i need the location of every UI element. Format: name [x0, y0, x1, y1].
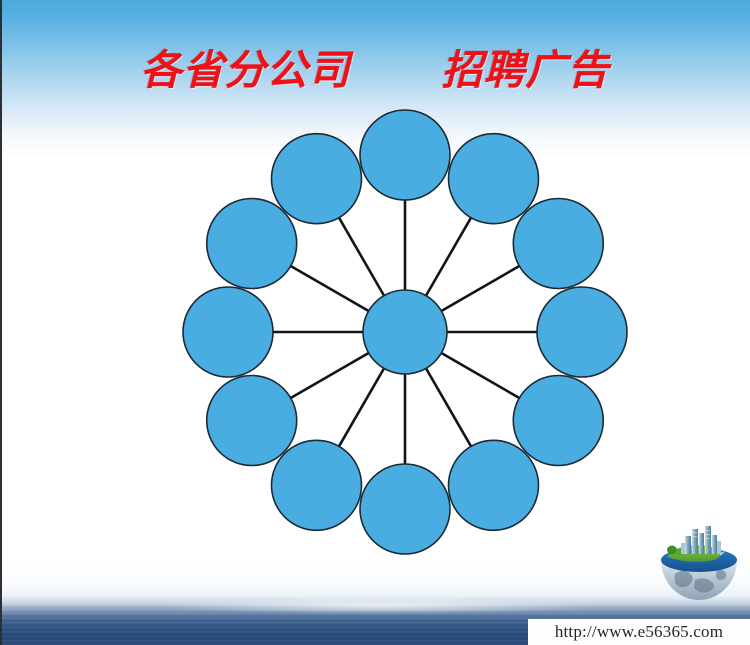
branch-node-circle[interactable] — [272, 440, 362, 530]
branch-node-circle[interactable] — [207, 199, 297, 289]
spoke-line — [426, 368, 472, 448]
watermark-url-text: http://www.e56365.com — [555, 622, 723, 642]
spoke-line — [339, 368, 385, 448]
hub-and-spoke-diagram — [0, 0, 750, 645]
slide-canvas: 各省分公司 招聘广告 — [0, 0, 750, 645]
center-hub-circle[interactable] — [363, 290, 447, 374]
branch-node-circle[interactable] — [513, 199, 603, 289]
spoke-line — [290, 353, 370, 399]
center-node-group — [363, 290, 447, 374]
title-segment-recruitment: 招聘广告 — [441, 36, 609, 96]
branch-node-circle[interactable] — [449, 134, 539, 224]
branch-node-circle[interactable] — [449, 440, 539, 530]
spoke-line — [441, 353, 521, 399]
branch-node-circle[interactable] — [360, 110, 450, 200]
branch-node-circle[interactable] — [183, 287, 273, 377]
watermark-url-box[interactable]: http://www.e56365.com — [528, 619, 750, 645]
branch-node-circle[interactable] — [272, 134, 362, 224]
branch-node-circle[interactable] — [360, 464, 450, 554]
branch-node-circle[interactable] — [537, 287, 627, 377]
spoke-line — [441, 266, 521, 312]
spoke-line — [339, 217, 385, 297]
page-title: 各省分公司 招聘广告 — [0, 36, 750, 96]
spoke-line — [426, 217, 472, 297]
globe-city-logo — [655, 524, 743, 604]
title-segment-company: 各省分公司 — [141, 36, 351, 96]
branch-node-circle[interactable] — [513, 376, 603, 466]
globe-city-towers — [681, 526, 721, 554]
branch-node-circle[interactable] — [207, 376, 297, 466]
spoke-line — [290, 266, 370, 312]
